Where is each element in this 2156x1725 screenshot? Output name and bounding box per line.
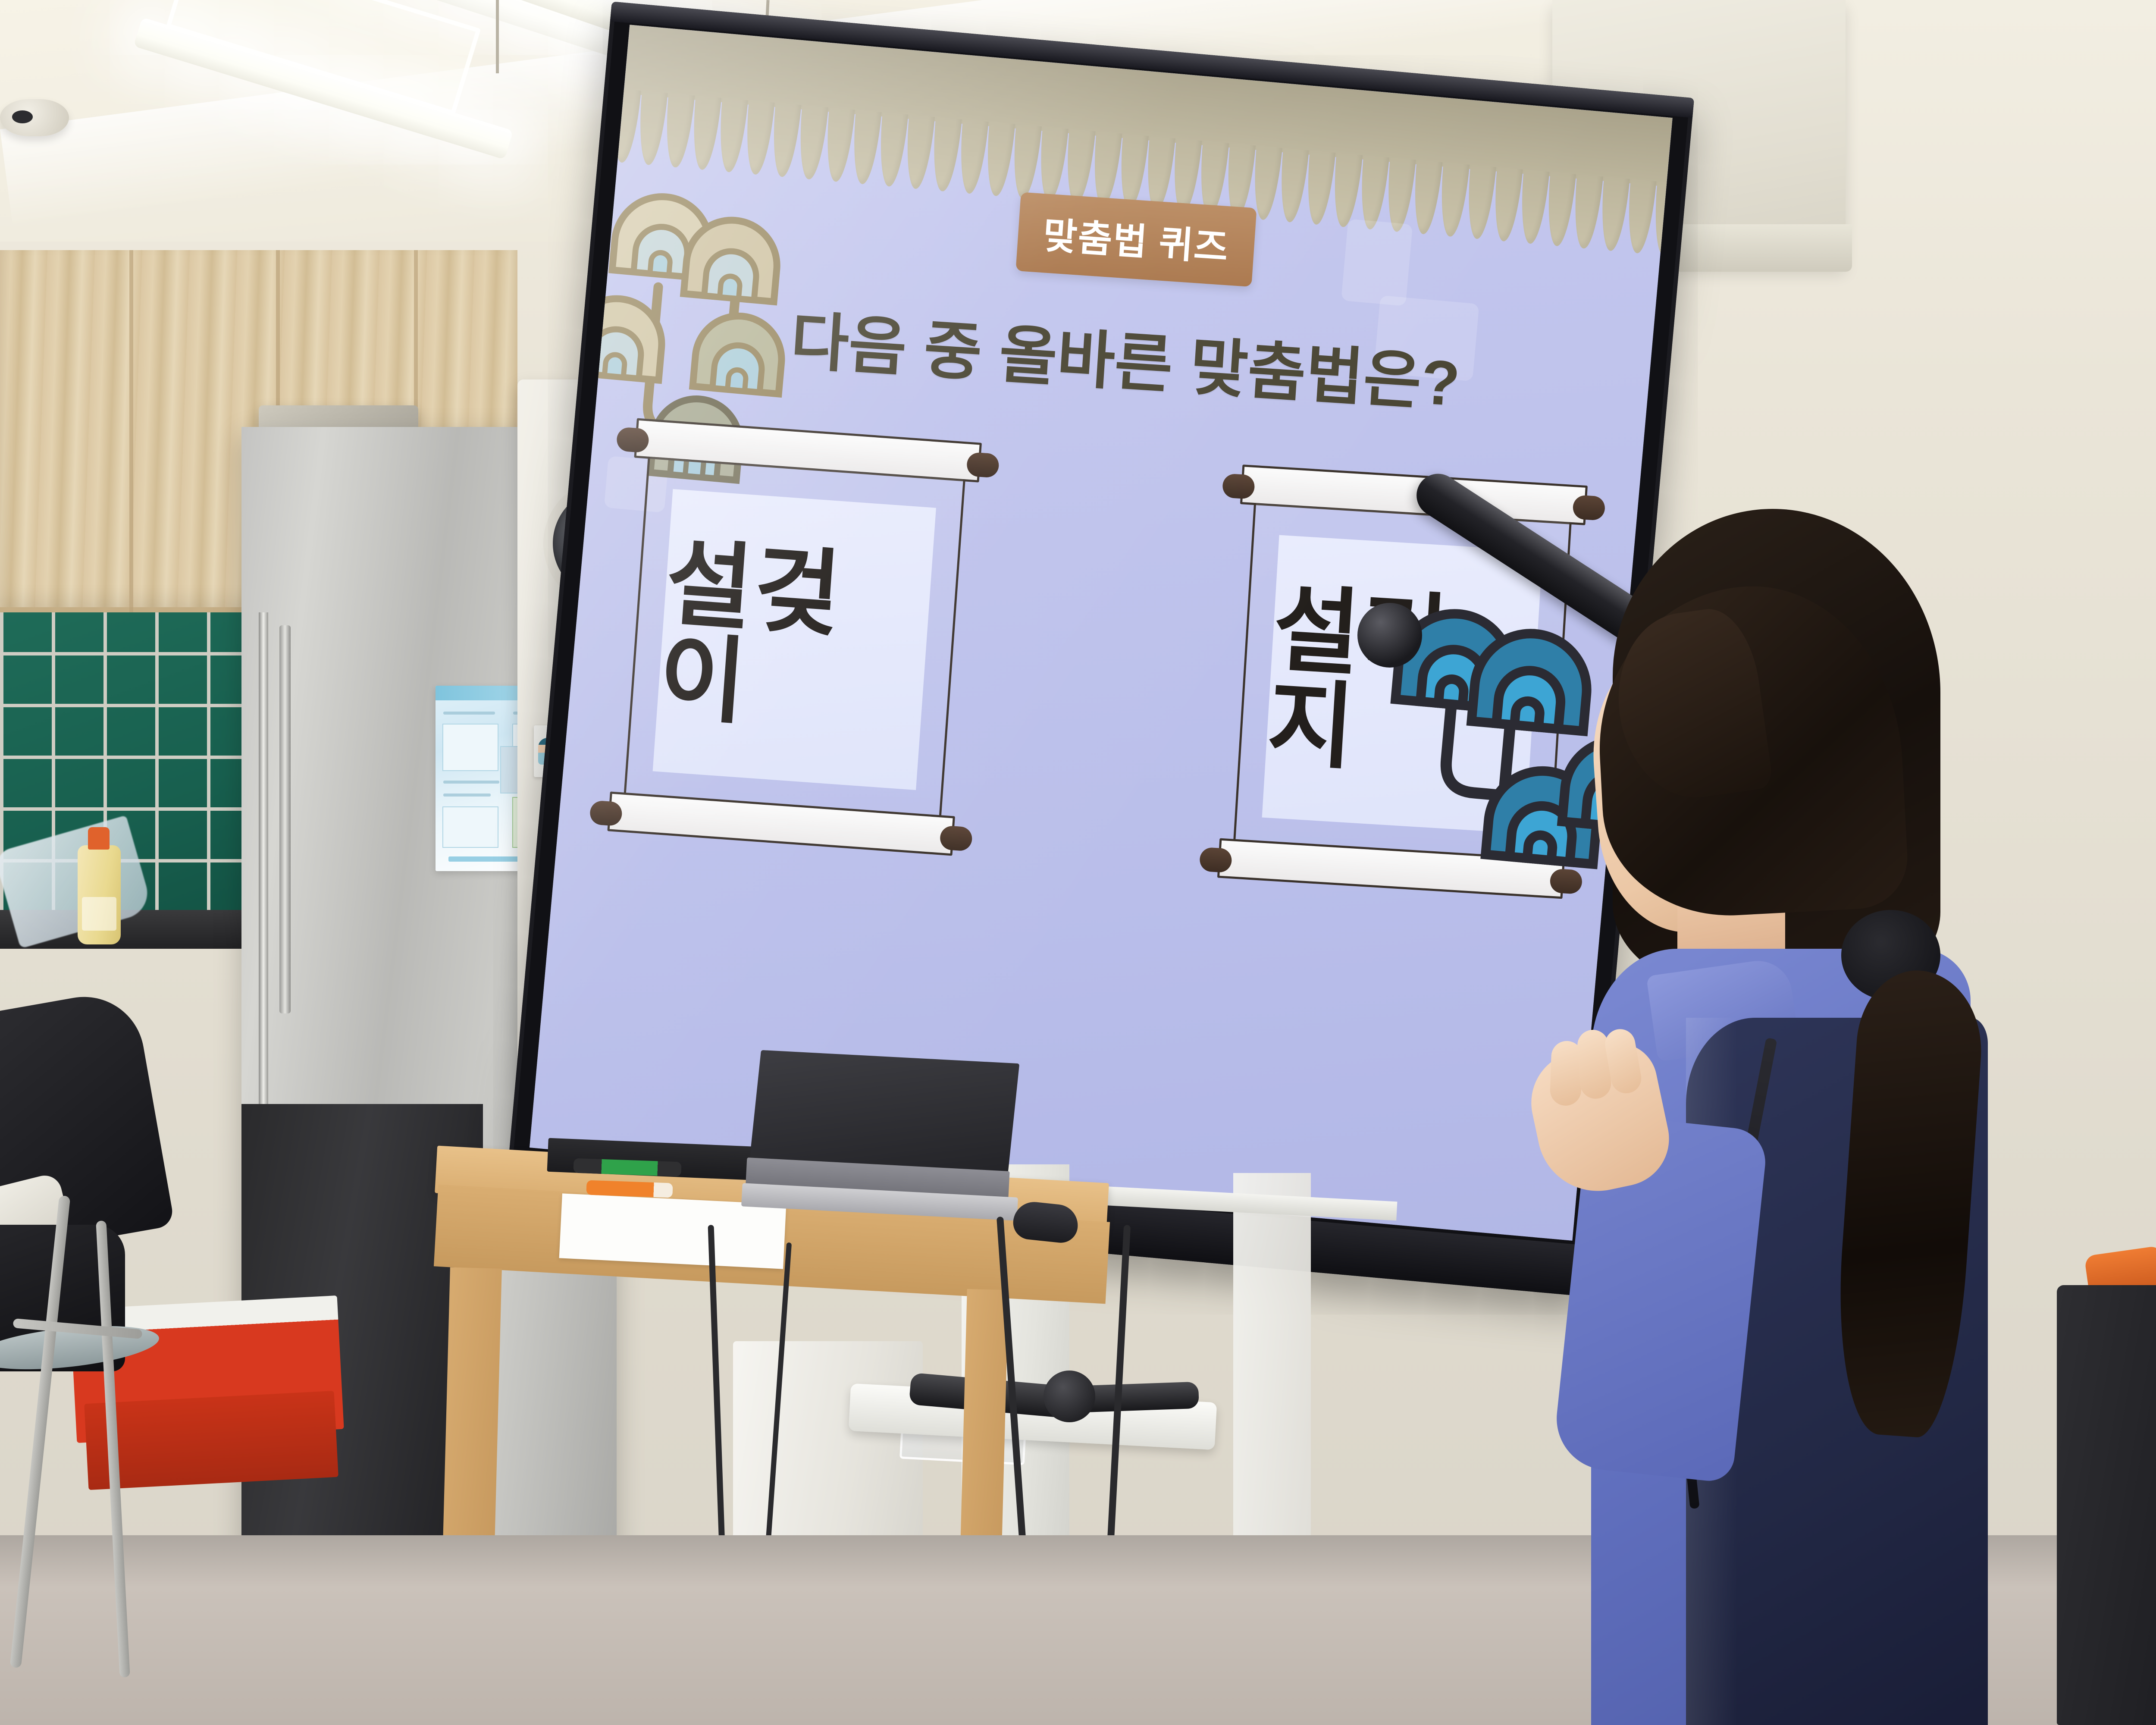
scroll-knob: [1222, 473, 1255, 499]
scroll-knob: [616, 427, 649, 453]
wall-mounted-tv[interactable]: 맞춤법 퀴즈 다음 중 올바른 맞춤법은? 설겆이: [505, 2, 1694, 1297]
smoke-detector: [0, 99, 69, 136]
slide-title: 다음 중 올바른 맞춤법은?: [788, 290, 1463, 424]
walker-frame[interactable]: [0, 1195, 172, 1703]
scroll-knob: [1199, 847, 1232, 873]
light-hanger-rod: [496, 0, 499, 73]
scroll-knob: [939, 825, 973, 851]
microphone-head: [1357, 603, 1422, 668]
scroll-body: 설겆이: [624, 457, 965, 817]
quiz-badge: 맞춤법 퀴즈: [1015, 192, 1257, 287]
tv-screen[interactable]: 맞춤법 퀴즈 다음 중 올바른 맞춤법은? 설겆이: [530, 25, 1673, 1240]
fridge-handle[interactable]: [279, 625, 291, 1013]
bottle-label: [82, 897, 116, 931]
room-scene: 공기: [0, 0, 2156, 1725]
decor-square: [1341, 219, 1413, 306]
answer-text-a: 설겆이: [656, 536, 933, 743]
scroll-paper: 설겆이: [653, 489, 936, 790]
scroll-knob: [966, 452, 1000, 478]
cabinet-seam: [129, 250, 133, 612]
answer-scroll-a[interactable]: 설겆이: [601, 418, 988, 856]
presentation-slide: 맞춤법 퀴즈 다음 중 올바른 맞춤법은? 설겆이: [530, 25, 1673, 1240]
presenter: [1544, 509, 2044, 1725]
orange-marker[interactable]: [586, 1180, 673, 1198]
microphone-head: [1044, 1371, 1095, 1422]
scroll-knob: [589, 800, 623, 826]
black-trolley-case[interactable]: [2057, 1285, 2156, 1725]
detergent-bottle[interactable]: [78, 845, 121, 944]
